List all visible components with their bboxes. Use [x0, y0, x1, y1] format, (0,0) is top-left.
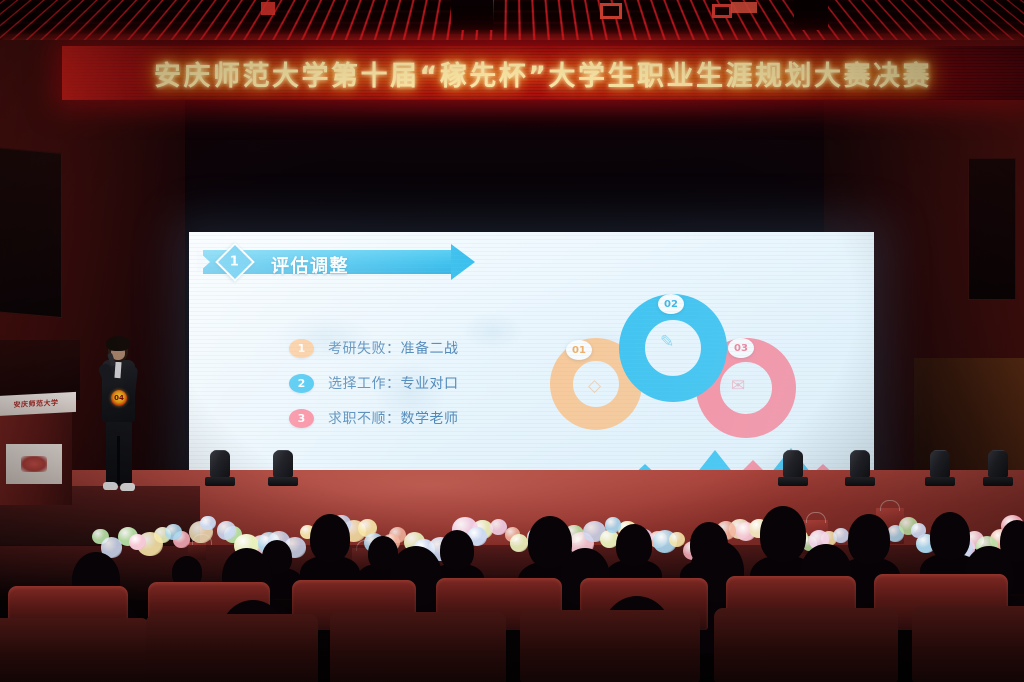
slide-title: 评估调整	[271, 252, 349, 278]
light-base	[268, 477, 298, 486]
podium-sign-text: 安庆师范大学	[14, 398, 59, 410]
moving-head-light	[205, 450, 235, 486]
ceiling-light-box-d	[731, 2, 757, 13]
moving-head-light	[268, 450, 298, 486]
presenter: 04	[95, 338, 143, 503]
auditorium-photo: 安庆师范大学第十届“稼先杯”大学生职业生涯规划大赛决赛 1 评估调整 1 考研失…	[0, 0, 1024, 682]
slide-step-number: 1	[230, 254, 239, 269]
ring-label-03: 03	[728, 338, 754, 358]
contestant-badge: 04	[111, 390, 127, 406]
bullet-text-1: 考研失败：准备二战	[328, 338, 459, 358]
list-item: 3 求职不顺：数学老师	[289, 408, 459, 428]
pencil-icon: ✎	[660, 332, 674, 352]
bullet-text-2: 选择工作：专业对口	[328, 373, 459, 393]
audience-head	[930, 512, 970, 560]
right-wall-panel	[968, 158, 1016, 300]
list-item: 2 选择工作：专业对口	[289, 373, 459, 393]
balloon	[510, 534, 528, 551]
slide-ring-diagram: ◇ ✎ ✉ 01 02 03	[544, 280, 849, 445]
bullet-badge-1: 1	[289, 339, 314, 358]
slide-bullet-list: 1 考研失败：准备二战 2 选择工作：专业对口 3 求职不顺：数学老师	[289, 338, 459, 443]
theater-seat	[520, 610, 700, 682]
theater-seat	[714, 608, 898, 682]
slide-header-arrow-icon	[451, 244, 475, 280]
ceiling-dark-gap-left	[451, 0, 493, 30]
balloon	[911, 523, 926, 538]
light-body	[930, 451, 950, 478]
left-wall-lower-panel	[0, 340, 80, 400]
audience-head	[760, 506, 806, 562]
presenter-leg-gap	[117, 436, 120, 484]
moving-head-light	[983, 448, 1013, 486]
balloon	[217, 521, 237, 540]
balloon	[165, 524, 182, 540]
light-body	[210, 451, 230, 478]
balloon	[605, 517, 621, 533]
light-base	[925, 477, 955, 486]
ceiling-light-box-b	[600, 3, 622, 19]
led-banner: 安庆师范大学第十届“稼先杯”大学生职业生涯规划大赛决赛	[62, 46, 1024, 100]
ring-label-02: 02	[658, 294, 684, 314]
light-base	[205, 477, 235, 486]
light-body	[988, 451, 1008, 478]
bullet-badge-3: 3	[289, 409, 314, 428]
light-body	[273, 451, 293, 478]
balloon	[200, 516, 216, 531]
light-body	[783, 451, 803, 478]
audience-head	[310, 514, 350, 562]
slide-step-badge: 1	[215, 242, 255, 282]
slide-header-notch-icon	[197, 250, 210, 274]
theater-seat	[330, 612, 506, 682]
list-item: 1 考研失败：准备二战	[289, 338, 459, 358]
audience-head	[616, 524, 652, 566]
theater-seat	[0, 618, 150, 682]
balloon	[129, 534, 146, 550]
ring-label-01: 01	[566, 340, 592, 360]
light-base	[845, 477, 875, 486]
balloon	[833, 528, 849, 543]
audience-head	[440, 530, 474, 570]
envelope-icon: ✉	[731, 376, 745, 396]
ceiling-light-box-a	[712, 4, 732, 18]
theater-seat	[146, 614, 318, 682]
light-body	[850, 451, 870, 478]
moving-head-light	[925, 448, 955, 486]
podium-sign: 安庆师范大学	[0, 392, 76, 416]
theater-seat	[912, 606, 1024, 682]
podium-front-plate	[6, 444, 62, 484]
light-base	[778, 477, 808, 486]
presenter-shoe-right	[120, 483, 135, 491]
diamond-icon: ◇	[588, 376, 601, 396]
left-wall-panel	[0, 147, 62, 318]
light-base	[983, 477, 1013, 486]
presenter-hair	[106, 336, 130, 351]
university-emblem	[21, 456, 47, 472]
ceiling-light-box-c	[261, 2, 275, 15]
presenter-shoe-left	[103, 482, 118, 490]
contestant-number: 04	[111, 390, 127, 406]
moving-head-light	[778, 448, 808, 486]
moving-head-light	[845, 448, 875, 486]
ceiling-dark-gap-right	[794, 0, 828, 30]
bullet-text-3: 求职不顺：数学老师	[328, 408, 459, 428]
audience-head	[848, 514, 890, 564]
banner-title: 安庆师范大学第十届“稼先杯”大学生职业生涯规划大赛决赛	[154, 54, 932, 93]
bullet-badge-2: 2	[289, 374, 314, 393]
